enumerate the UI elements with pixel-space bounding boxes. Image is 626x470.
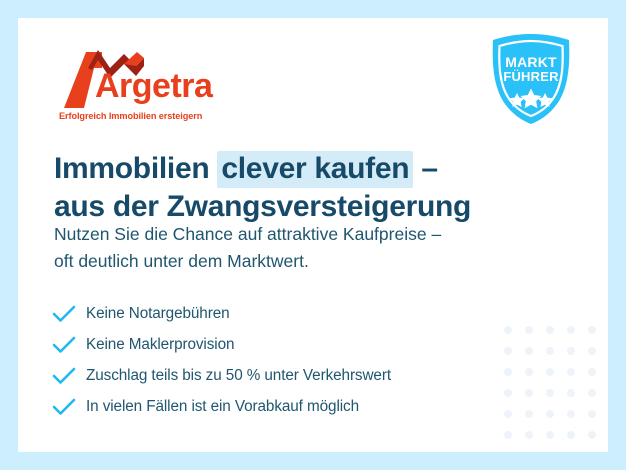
- list-item: Keine Notargebühren: [51, 298, 511, 329]
- decoration-dot: [588, 431, 596, 439]
- headline-prefix: Immobilien: [54, 152, 217, 185]
- decoration-dot: [567, 431, 575, 439]
- shield-badge-icon: [489, 33, 573, 125]
- decoration-dot: [588, 410, 596, 418]
- decoration-dot: [546, 431, 554, 439]
- headline-highlight: clever kaufen: [217, 151, 413, 188]
- headline-suffix: –: [413, 152, 437, 185]
- list-item: Keine Maklerprovision: [51, 329, 511, 360]
- decoration-dot: [525, 389, 533, 397]
- decoration-dot: [546, 368, 554, 376]
- headline-line-1: Immobilien clever kaufen –: [54, 150, 554, 188]
- decoration-dot: [525, 431, 533, 439]
- decoration-dot: [567, 326, 575, 334]
- check-icon: [51, 366, 77, 386]
- list-item: Zuschlag teils bis zu 50 % unter Verkehr…: [51, 360, 511, 391]
- logo-tagline: Erfolgreich Immobilien ersteigern: [59, 111, 202, 121]
- decoration-dot: [588, 347, 596, 355]
- decoration-dot: [525, 368, 533, 376]
- check-icon: [51, 397, 77, 417]
- decoration-dot: [504, 431, 512, 439]
- argetra-logo: Argetra Erfolgreich Immobilien ersteiger…: [58, 46, 238, 126]
- decoration-dot: [567, 368, 575, 376]
- check-icon: [51, 335, 77, 355]
- decoration-dot: [567, 389, 575, 397]
- list-item-label: Zuschlag teils bis zu 50 % unter Verkehr…: [86, 367, 391, 385]
- list-item-label: Keine Notargebühren: [86, 305, 230, 323]
- decoration-dot: [588, 368, 596, 376]
- decoration-dot: [546, 347, 554, 355]
- decoration-dot: [525, 410, 533, 418]
- decoration-dot: [567, 347, 575, 355]
- markt-fuehrer-badge: MARKT FÜHRER: [489, 33, 573, 125]
- list-item-label: In vielen Fällen ist ein Vorabkauf mögli…: [86, 398, 359, 416]
- decoration-dot: [546, 326, 554, 334]
- check-icon: [51, 304, 77, 324]
- benefit-list: Keine Notargebühren Keine Maklerprovisio…: [51, 298, 511, 422]
- subheadline-line-2: oft deutlich unter dem Marktwert.: [54, 248, 554, 275]
- subheadline-line-1: Nutzen Sie die Chance auf attraktive Kau…: [54, 221, 554, 248]
- card-canvas: Argetra Erfolgreich Immobilien ersteiger…: [18, 18, 608, 452]
- page-title: Immobilien clever kaufen – aus der Zwang…: [54, 150, 554, 227]
- decoration-dot: [525, 347, 533, 355]
- logo-wordmark: Argetra: [95, 69, 212, 103]
- subheadline: Nutzen Sie die Chance auf attraktive Kau…: [54, 221, 554, 274]
- promo-card: Argetra Erfolgreich Immobilien ersteiger…: [0, 0, 626, 470]
- decoration-dot: [546, 389, 554, 397]
- list-item-label: Keine Maklerprovision: [86, 336, 234, 354]
- decoration-dot: [588, 389, 596, 397]
- decoration-dot: [567, 410, 575, 418]
- list-item: In vielen Fällen ist ein Vorabkauf mögli…: [51, 391, 511, 422]
- dot-grid-decoration: [498, 320, 608, 452]
- decoration-dot: [588, 326, 596, 334]
- decoration-dot: [546, 410, 554, 418]
- decoration-dot: [525, 326, 533, 334]
